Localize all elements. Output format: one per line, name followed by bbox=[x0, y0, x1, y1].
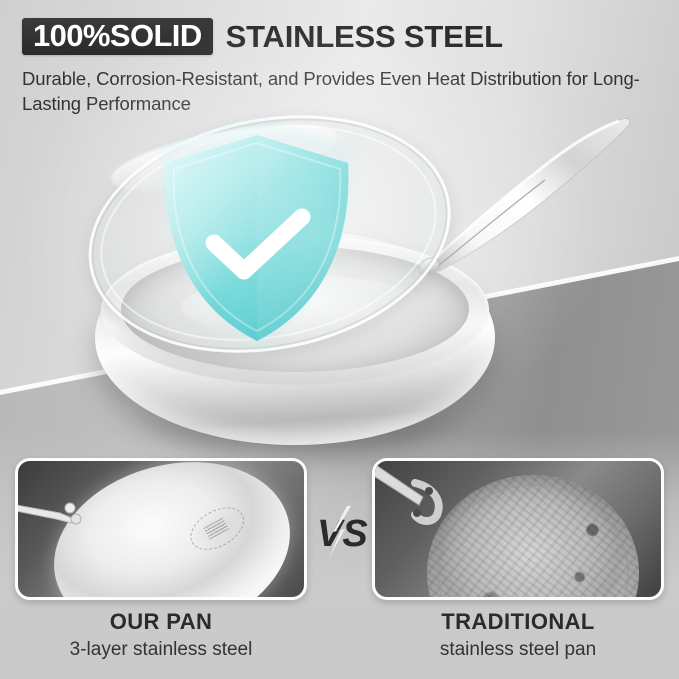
headline-text: STAINLESS STEEL bbox=[226, 21, 503, 52]
caption-title-our-pan: OUR PAN bbox=[15, 608, 307, 636]
hero-product-scene bbox=[0, 95, 679, 465]
pan-base-stamp bbox=[183, 499, 251, 559]
headline-row: 100%SOLID STAINLESS STEEL bbox=[22, 16, 657, 56]
caption-subtitle-traditional: stainless steel pan bbox=[372, 638, 664, 662]
our-pan-handle bbox=[15, 499, 88, 525]
product-feature-image: 100%SOLID STAINLESS STEEL Durable, Corro… bbox=[0, 0, 679, 679]
traditional-pan-handle bbox=[372, 458, 457, 527]
versus-badge: VS bbox=[313, 506, 373, 558]
solid-badge: 100%SOLID bbox=[22, 18, 213, 55]
comparison-panel-our-pan bbox=[15, 458, 307, 600]
comparison-panel-traditional bbox=[372, 458, 664, 600]
shield-check-icon bbox=[152, 131, 362, 346]
caption-traditional: TRADITIONAL stainless steel pan bbox=[372, 608, 664, 661]
caption-subtitle-our-pan: 3-layer stainless steel bbox=[15, 638, 307, 662]
caption-our-pan: OUR PAN 3-layer stainless steel bbox=[15, 608, 307, 661]
caption-title-traditional: TRADITIONAL bbox=[372, 608, 664, 636]
comparison-section: VS OUR PAN 3-layer stainless steel bbox=[0, 458, 679, 679]
